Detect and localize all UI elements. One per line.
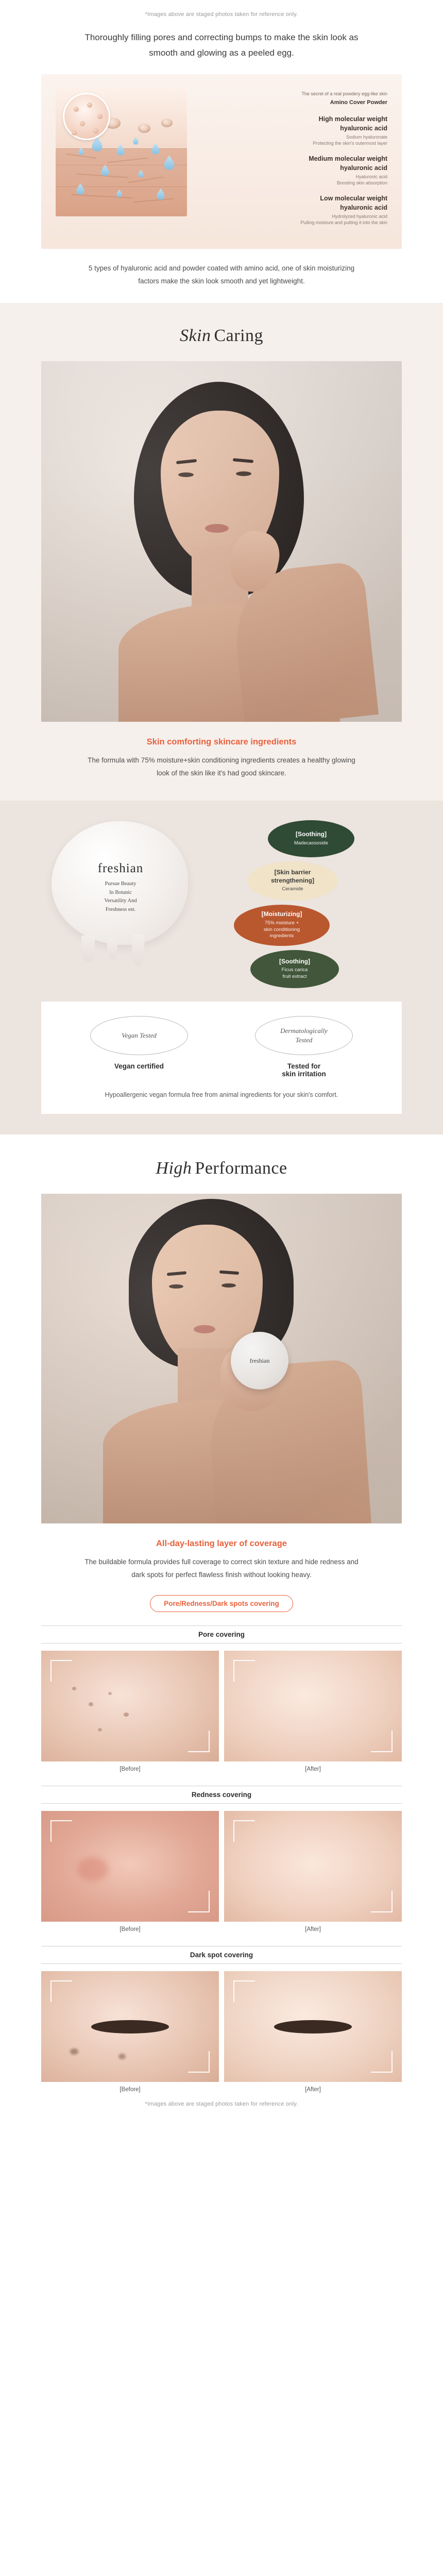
badge-sub: Ceramide xyxy=(282,886,303,893)
ingredient-sub: Hydrolyzed hyaluronic acid xyxy=(200,214,387,219)
title-italic-part: High xyxy=(156,1159,192,1178)
ingredient-block-low: Low molecular weight hyaluronic acid Hyd… xyxy=(200,194,387,225)
product-detail-page: *Images above are staged photos taken fo… xyxy=(0,0,443,2115)
ingredient-block-medium: Medium molecular weight hyaluronic acid … xyxy=(200,154,387,185)
cert-oval-line-2: Tested xyxy=(296,1036,313,1044)
product-label: freshian Pursue Beauty In Botanic Versat… xyxy=(79,861,162,914)
ba-head-redness: Redness covering xyxy=(41,1786,402,1804)
tagline-line-1: Pursue Beauty xyxy=(79,880,162,889)
badge-sub-line-2: skin conditioning xyxy=(264,927,300,933)
certification-box: Vegan Tested Vegan certified Dermatologi… xyxy=(41,1002,402,1114)
ba-head-pore: Pore covering xyxy=(41,1625,402,1643)
powder-closeup-circle xyxy=(63,93,110,140)
ba-caption-after: [After] xyxy=(224,1761,402,1772)
badge-title-line-1: [Skin barrier xyxy=(275,869,311,876)
ba-before-darkspot: [Before] xyxy=(41,1971,219,2093)
ingredient-sub: Sodium hyaluronate xyxy=(200,134,387,140)
note-title: The secret of a real powdery egg-like sk… xyxy=(200,91,387,98)
tagline-line-2: In Botanic xyxy=(79,889,162,897)
before-after-section: Pore covering [Before] xyxy=(0,1625,443,2115)
cert-vegan: Vegan Tested Vegan certified xyxy=(57,1016,221,1078)
cert-oval-line-1: Dermatologically xyxy=(280,1027,328,1035)
brand-tagline: Pursue Beauty In Botanic Versatility And… xyxy=(79,880,162,914)
ba-image-after xyxy=(224,1811,402,1922)
ingredient-desc: Pulling moisture and putting it into the… xyxy=(200,220,387,225)
intro-bottom-copy: 5 types of hyaluronic acid and powder co… xyxy=(0,249,443,287)
ba-image-before xyxy=(41,1811,219,1922)
ba-image-after xyxy=(224,1971,402,2082)
title-italic-part: Skin xyxy=(180,326,211,345)
ba-caption-after: [After] xyxy=(224,1922,402,1933)
skin-caring-section: SkinCaring Skin comforting skincare ingr… xyxy=(0,303,443,801)
ingredient-title: Medium molecular weight hyaluronic acid xyxy=(200,154,387,173)
high-performance-title: HighPerformance xyxy=(0,1158,443,1178)
badge-soothing-madecassoside: [Soothing] Madecassoside xyxy=(268,820,354,857)
ingredient-title: Low molecular weight hyaluronic acid xyxy=(200,194,387,212)
cert-name-vegan: Vegan certified xyxy=(57,1062,221,1070)
ingredient-title-text: High molecular weight hyaluronic acid xyxy=(319,115,387,132)
badge-skin-barrier-ceramide: [Skin barrier strengthening] Ceramide xyxy=(247,861,338,901)
badge-soothing-ficus: [Soothing] Ficus carica fruit extract xyxy=(250,950,339,988)
title-regular-part: Caring xyxy=(214,326,264,345)
badge-sub-line-3: ingredients xyxy=(270,933,294,939)
badge-sub-line-2: fruit extract xyxy=(283,974,307,979)
skin-caring-body: The formula with 75% moisture+skin condi… xyxy=(0,747,443,780)
badge-sub-line-1: 75% moisture + xyxy=(265,920,299,926)
ingredient-block-high: High molecular weight hyaluronic acid So… xyxy=(200,114,387,146)
ingredient-sub: Hyaluronic acid xyxy=(200,174,387,179)
top-disclaimer: *Images above are staged photos taken fo… xyxy=(0,3,443,23)
tagline-line-3: Versatility And xyxy=(79,897,162,906)
badge-moisturizing: [Moisturizing] 75% moisture + skin condi… xyxy=(234,905,330,946)
ba-image-before xyxy=(41,1971,219,2082)
badge-sub: Ficus carica fruit extract xyxy=(282,967,308,980)
badge-title: [Soothing] xyxy=(279,958,310,966)
badge-title: [Soothing] xyxy=(296,831,327,839)
model-photo-skin-caring xyxy=(41,361,402,722)
intro-headline: Thoroughly filling pores and correcting … xyxy=(0,23,443,74)
skin-cross-section-illustration xyxy=(56,88,187,216)
ba-after-darkspot: [After] xyxy=(224,1971,402,2093)
brand-name: freshian xyxy=(79,861,162,876)
badge-title: [Skin barrier strengthening] xyxy=(271,869,314,885)
cert-name-line-2: skin irritation xyxy=(282,1070,326,1078)
ingredient-title: High molecular weight hyaluronic acid xyxy=(200,114,387,133)
ba-caption-after: [After] xyxy=(224,2082,402,2093)
ba-block-pore: Pore covering [Before] xyxy=(41,1625,402,1772)
tagline-line-4: Freshness est. xyxy=(79,906,162,914)
ba-block-darkspot: Dark spot covering [Before] xyxy=(41,1946,402,2093)
infographic-art xyxy=(56,88,190,234)
ingredient-title-text: Low molecular weight hyaluronic acid xyxy=(320,195,387,211)
high-performance-section: HighPerformance freshian All-day-lasting… xyxy=(0,1134,443,1612)
badge-title-line-2: strengthening] xyxy=(271,877,314,884)
skin-caring-title: SkinCaring xyxy=(0,326,443,346)
ba-after-pore: [After] xyxy=(224,1651,402,1772)
cert-name-dermatological: Tested for skin irritation xyxy=(221,1062,386,1078)
note-name: Amino Cover Powder xyxy=(200,98,387,107)
ingredients-badges-section: freshian Pursue Beauty In Botanic Versat… xyxy=(0,801,443,1135)
ba-before-pore: [Before] xyxy=(41,1651,219,1772)
ingredient-desc: Boosting skin absorption xyxy=(200,180,387,185)
intro-section: *Images above are staged photos taken fo… xyxy=(0,0,443,303)
cert-dermatological: Dermatologically Tested Tested for skin … xyxy=(221,1016,386,1078)
amino-cover-powder-note: The secret of a real powdery egg-like sk… xyxy=(200,91,387,107)
high-performance-redhead: All-day-lasting layer of coverage xyxy=(0,1539,443,1549)
ingredient-desc: Protecting the skin's outermost layer xyxy=(200,141,387,146)
product-splash-illustration: freshian Pursue Beauty In Botanic Versat… xyxy=(41,818,211,973)
ba-head-darkspot: Dark spot covering xyxy=(41,1946,402,1964)
bottom-disclaimer: *Images above are staged photos taken fo… xyxy=(0,2093,443,2112)
ingredient-title-text: Medium molecular weight hyaluronic acid xyxy=(309,155,387,172)
ba-caption-before: [Before] xyxy=(41,2082,219,2093)
model-photo-high-performance: freshian xyxy=(41,1194,402,1523)
cert-name-line-1: Tested for xyxy=(287,1062,320,1070)
ba-image-before xyxy=(41,1651,219,1761)
coverage-pill: Pore/Redness/Dark spots covering xyxy=(150,1595,293,1612)
ba-image-after xyxy=(224,1651,402,1761)
cert-footer-copy: Hypoallergenic vegan formula free from a… xyxy=(57,1078,386,1101)
title-regular-part: Performance xyxy=(195,1159,287,1178)
ingredient-badge-list: [Soothing] Madecassoside [Skin barrier s… xyxy=(218,818,402,988)
hyaluronic-infographic: The secret of a real powdery egg-like sk… xyxy=(41,74,402,249)
high-performance-body: The buildable formula provides full cove… xyxy=(0,1549,443,1582)
ba-after-redness: [After] xyxy=(224,1811,402,1933)
skin-caring-redhead: Skin comforting skincare ingredients xyxy=(0,737,443,747)
badge-title: [Moisturizing] xyxy=(262,910,302,919)
cert-oval-dermatological: Dermatologically Tested xyxy=(255,1016,353,1055)
badge-sub-line-1: Ficus carica xyxy=(282,967,308,973)
cert-oval-vegan: Vegan Tested xyxy=(90,1016,188,1055)
ba-caption-before: [Before] xyxy=(41,1922,219,1933)
ba-block-redness: Redness covering [Before] xyxy=(41,1786,402,1933)
ba-caption-before: [Before] xyxy=(41,1761,219,1772)
badge-sub: Madecassoside xyxy=(294,840,328,847)
badge-sub: 75% moisture + skin conditioning ingredi… xyxy=(264,920,300,940)
infographic-text: The secret of a real powdery egg-like sk… xyxy=(200,88,387,234)
ba-before-redness: [Before] xyxy=(41,1811,219,1933)
